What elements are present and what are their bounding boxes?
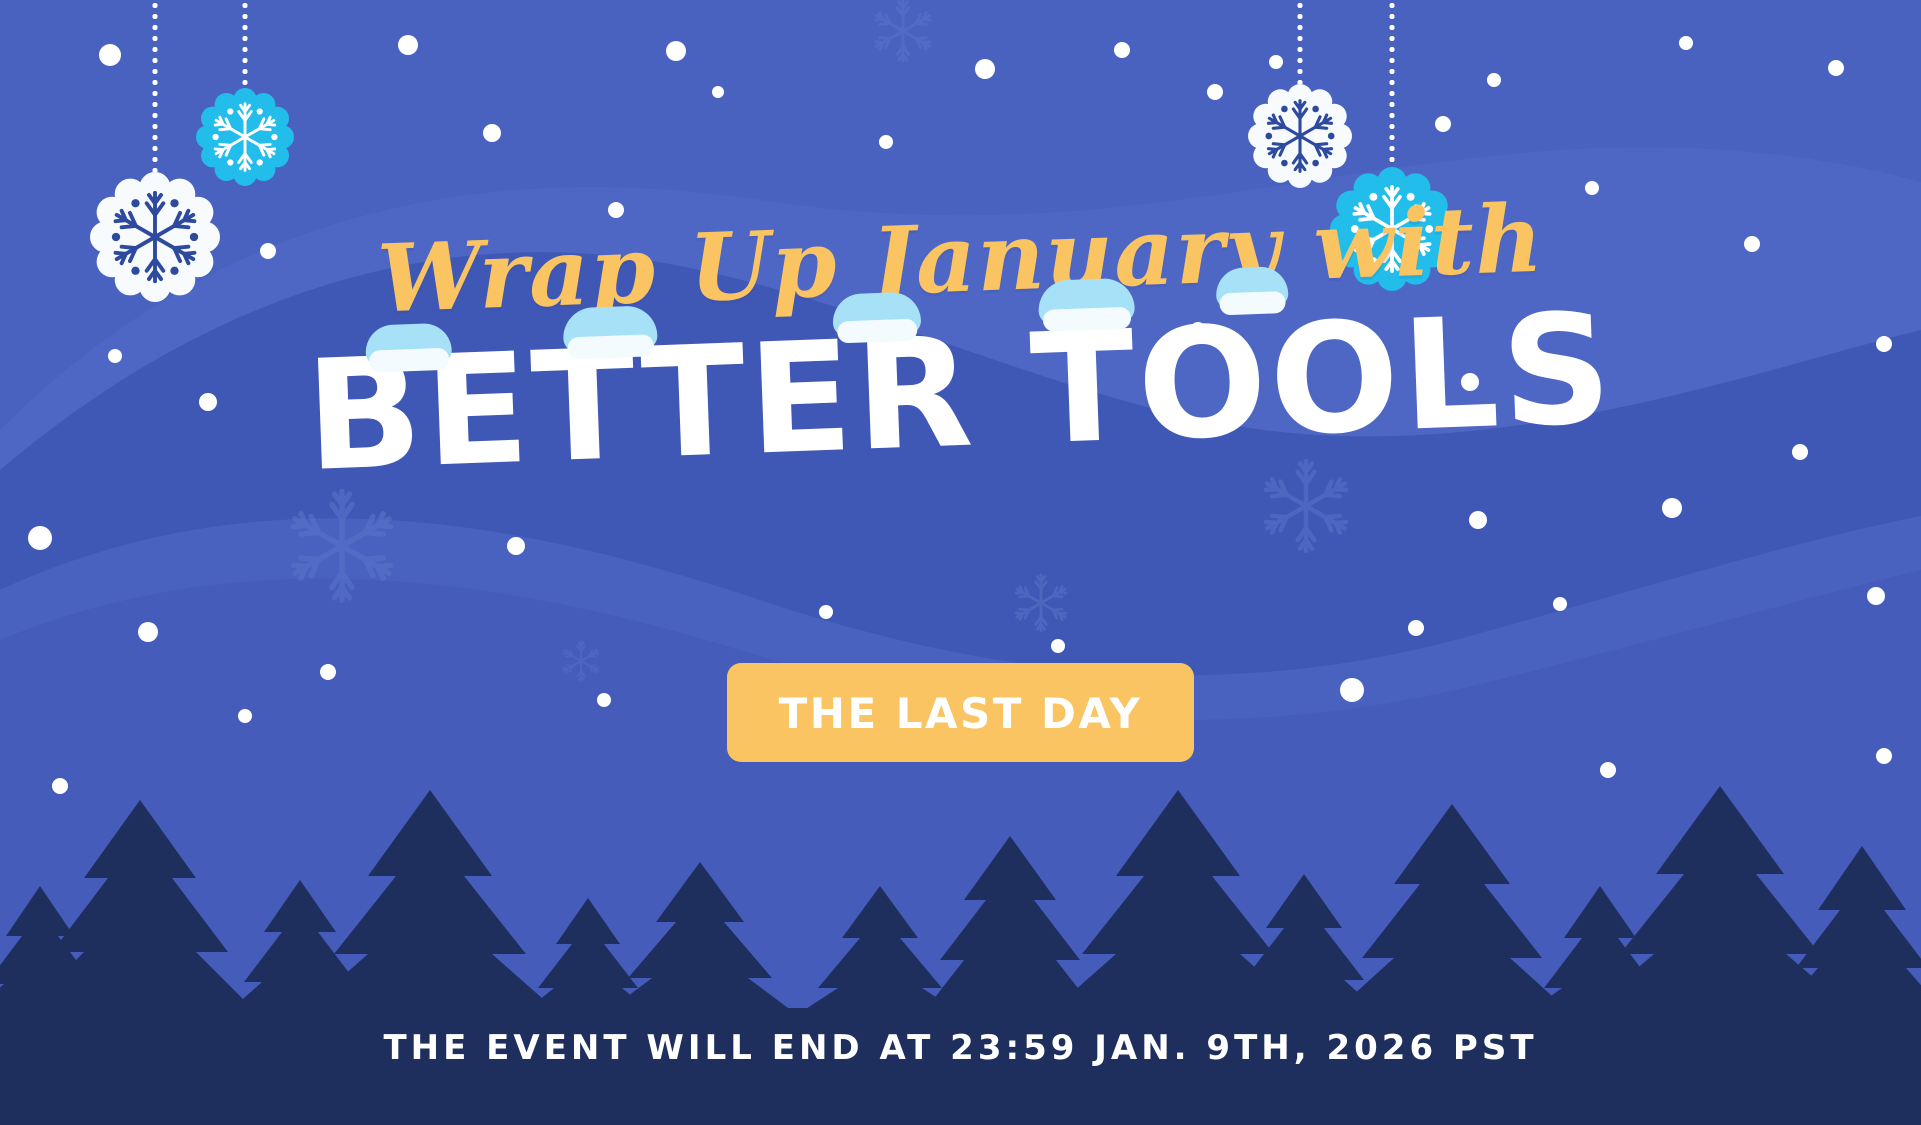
snow-dot	[1828, 60, 1844, 76]
snow-dot	[1461, 373, 1479, 391]
snow-dot	[199, 393, 217, 411]
snow-dot	[975, 59, 995, 79]
snow-dot	[483, 124, 501, 142]
snow-dot	[712, 86, 724, 98]
snow-dot	[1585, 181, 1599, 195]
ornament-cord	[1298, 0, 1303, 84]
snow-dot	[1744, 236, 1760, 252]
snowflake-icon	[90, 172, 220, 307]
the-last-day-button[interactable]: THE LAST DAY	[727, 663, 1195, 762]
snow-dot	[1867, 587, 1885, 605]
snow-dot	[138, 622, 158, 642]
snow-dot	[1876, 336, 1892, 352]
snow-dot	[1600, 762, 1616, 778]
snow-dot	[320, 664, 336, 680]
ornament-cord	[153, 0, 158, 172]
snow-dot	[1408, 620, 1424, 636]
snow-dot	[108, 349, 122, 363]
snow-dot	[666, 41, 686, 61]
snow-dot	[1435, 116, 1451, 132]
snow-dot	[1207, 84, 1223, 100]
snow-dot	[608, 202, 624, 218]
snow-dot	[1269, 55, 1283, 69]
snow-dot	[1553, 597, 1567, 611]
snow-dot	[1469, 511, 1487, 529]
snow-dot	[260, 243, 276, 259]
snow-dot	[1792, 444, 1808, 460]
snow-dot	[1360, 332, 1376, 348]
snow-dot	[1051, 639, 1065, 653]
snowflake-icon	[196, 88, 294, 191]
snow-dot	[52, 778, 68, 794]
snow-dot	[879, 135, 893, 149]
snowflake-icon	[1330, 167, 1454, 296]
snow-dot	[1114, 42, 1130, 58]
winter-promo-banner: Wrap Up January with BETTER TOOLS THE LA…	[0, 0, 1921, 1125]
snow-dot	[507, 537, 525, 555]
snow-dot	[819, 605, 833, 619]
snow-dot	[99, 44, 121, 66]
snow-dot	[398, 35, 418, 55]
snow-dot	[1190, 322, 1206, 338]
snow-dot	[1876, 748, 1892, 764]
snow-dot	[1662, 498, 1682, 518]
snow-dot	[1487, 73, 1501, 87]
snow-dot	[238, 709, 252, 723]
snow-dot	[28, 526, 52, 550]
ornament-cord	[1390, 0, 1395, 167]
snow-dot	[597, 693, 611, 707]
ornament-cord	[243, 0, 248, 88]
snow-dot	[1340, 678, 1364, 702]
snow-dot	[1679, 36, 1693, 50]
